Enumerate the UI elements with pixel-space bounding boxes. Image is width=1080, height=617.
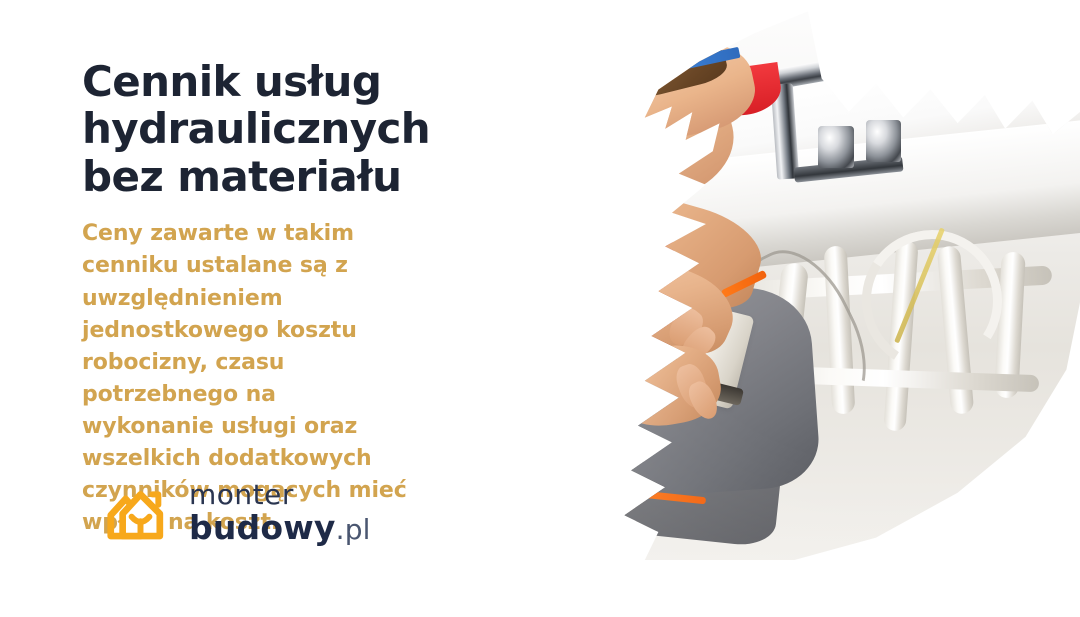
photo-tap-cold	[866, 120, 901, 162]
promo-banner: Cennik usług hydraulicznych bez materiał…	[0, 0, 1080, 617]
text-column: Cennik usług hydraulicznych bez materiał…	[82, 58, 682, 539]
photo-chrome-spout-top	[819, 18, 932, 72]
logo-name-bottom-text: budowy	[189, 508, 336, 547]
photo-tap-hot	[818, 126, 853, 168]
brand-logo[interactable]: monter budowy.pl	[103, 481, 371, 544]
page-title: Cennik usług hydraulicznych bez materiał…	[82, 58, 672, 200]
logo-tld: .pl	[336, 513, 371, 546]
house-icon	[103, 484, 175, 542]
logo-name-bottom: budowy.pl	[189, 511, 371, 544]
logo-wordmark: monter budowy.pl	[189, 481, 371, 544]
logo-name-top: monter	[189, 481, 371, 509]
